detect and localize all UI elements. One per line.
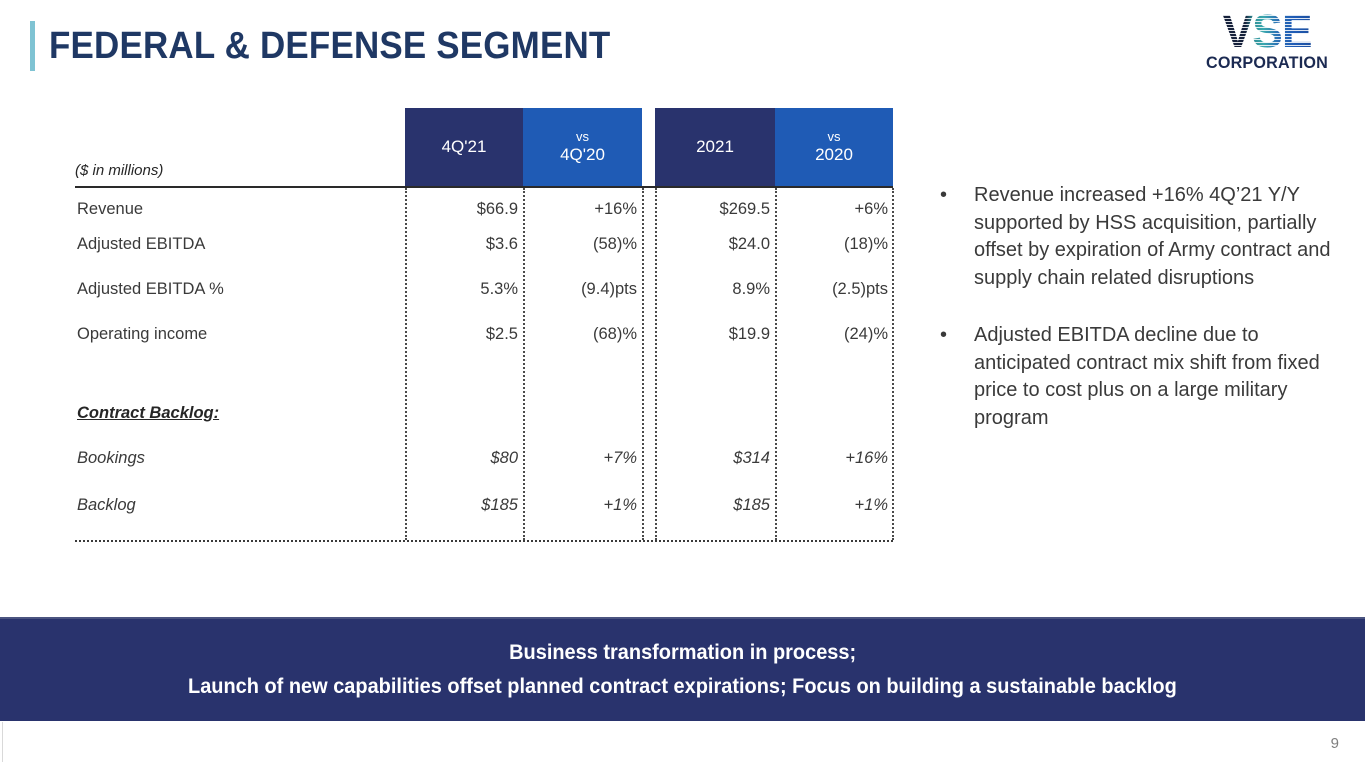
row-value-4q21: $2.5 <box>405 325 518 344</box>
list-item-text: Revenue increased +16% 4Q’21 Y/Y support… <box>974 184 1330 289</box>
banner-line-1: Business transformation in process; <box>509 636 856 670</box>
row-value-vs-4q20: +1% <box>523 496 637 515</box>
column-header-4q21: 4Q'21 <box>405 108 523 186</box>
row-label: Adjusted EBITDA % <box>77 280 224 299</box>
table-top-rule <box>75 186 893 188</box>
bullet-marker-icon: • <box>940 182 947 210</box>
summary-banner: Business transformation in process; Laun… <box>0 617 1365 721</box>
column-header-vs-2020: vs 2020 <box>775 108 893 186</box>
row-label: Bookings <box>77 449 145 468</box>
row-label: Adjusted EBITDA <box>77 235 205 254</box>
column-header-4q21-label: 4Q'21 <box>442 137 487 156</box>
column-header-2021-label: 2021 <box>696 137 734 156</box>
left-edge-mark <box>2 722 3 762</box>
row-value-2021: $185 <box>655 496 770 515</box>
row-value-vs-2020: (18)% <box>775 235 888 254</box>
table-row: Bookings $80 +7% $314 +16% <box>75 449 893 473</box>
table-bottom-rule <box>75 540 893 542</box>
row-value-2021: $314 <box>655 449 770 468</box>
row-label: Operating income <box>77 325 207 344</box>
logo-wordmark: VSE <box>1222 10 1311 54</box>
row-value-vs-2020: (24)% <box>775 325 888 344</box>
row-value-vs-2020: +6% <box>775 200 888 219</box>
row-value-vs-4q20: +16% <box>523 200 637 219</box>
row-value-2021: $269.5 <box>655 200 770 219</box>
table-row: Adjusted EBITDA % 5.3% (9.4)pts 8.9% (2.… <box>75 280 893 304</box>
column-header-2021: 2021 <box>655 108 775 186</box>
table-row: Operating income $2.5 (68)% $19.9 (24)% <box>75 325 893 349</box>
row-value-4q21: 5.3% <box>405 280 518 299</box>
commentary-bullet-list: • Revenue increased +16% 4Q’21 Y/Y suppo… <box>932 182 1332 462</box>
row-value-4q21: $3.6 <box>405 235 518 254</box>
row-value-vs-4q20: (58)% <box>523 235 637 254</box>
page-number: 9 <box>1331 735 1339 752</box>
row-value-vs-4q20: +7% <box>523 449 637 468</box>
slide-title-bar: FEDERAL & DEFENSE SEGMENT <box>30 20 659 72</box>
bullet-marker-icon: • <box>940 322 947 350</box>
column-header-vs-2020-line2: 2020 <box>815 145 853 164</box>
column-header-vs-4q20: vs 4Q'20 <box>523 108 642 186</box>
row-label: Backlog <box>77 496 136 515</box>
table-row: Adjusted EBITDA $3.6 (58)% $24.0 (18)% <box>75 235 893 259</box>
row-value-vs-2020: (2.5)pts <box>775 280 888 299</box>
table-row: Revenue $66.9 +16% $269.5 +6% <box>75 200 893 224</box>
list-item: • Revenue increased +16% 4Q’21 Y/Y suppo… <box>932 182 1332 292</box>
vse-corporation-logo: VSE CORPORATION <box>1201 10 1333 72</box>
column-header-vs-4q20-line2: 4Q'20 <box>560 145 605 164</box>
row-value-2021: $19.9 <box>655 325 770 344</box>
banner-line-2: Launch of new capabilities offset planne… <box>188 670 1177 704</box>
row-value-4q21: $80 <box>405 449 518 468</box>
title-accent-bar <box>30 21 35 71</box>
contract-backlog-heading: Contract Backlog: <box>77 404 219 423</box>
list-item: • Adjusted EBITDA decline due to anticip… <box>932 322 1332 432</box>
row-value-vs-4q20: (9.4)pts <box>523 280 637 299</box>
row-value-2021: 8.9% <box>655 280 770 299</box>
row-label: Revenue <box>77 200 143 219</box>
list-item-text: Adjusted EBITDA decline due to anticipat… <box>974 324 1320 429</box>
row-value-4q21: $66.9 <box>405 200 518 219</box>
column-header-vs-4q20-line1: vs <box>560 130 605 145</box>
financial-summary-table: 4Q'21 vs 4Q'20 2021 vs 2020 ($ in millio… <box>75 108 893 543</box>
column-header-vs-2020-line1: vs <box>815 130 853 145</box>
page-title: FEDERAL & DEFENSE SEGMENT <box>49 27 610 65</box>
row-value-vs-4q20: (68)% <box>523 325 637 344</box>
row-value-vs-2020: +1% <box>775 496 888 515</box>
logo-subtitle: CORPORATION <box>1204 54 1329 73</box>
row-value-vs-2020: +16% <box>775 449 888 468</box>
table-row: Backlog $185 +1% $185 +1% <box>75 496 893 520</box>
row-value-4q21: $185 <box>405 496 518 515</box>
row-value-2021: $24.0 <box>655 235 770 254</box>
units-caption: ($ in millions) <box>75 162 163 179</box>
